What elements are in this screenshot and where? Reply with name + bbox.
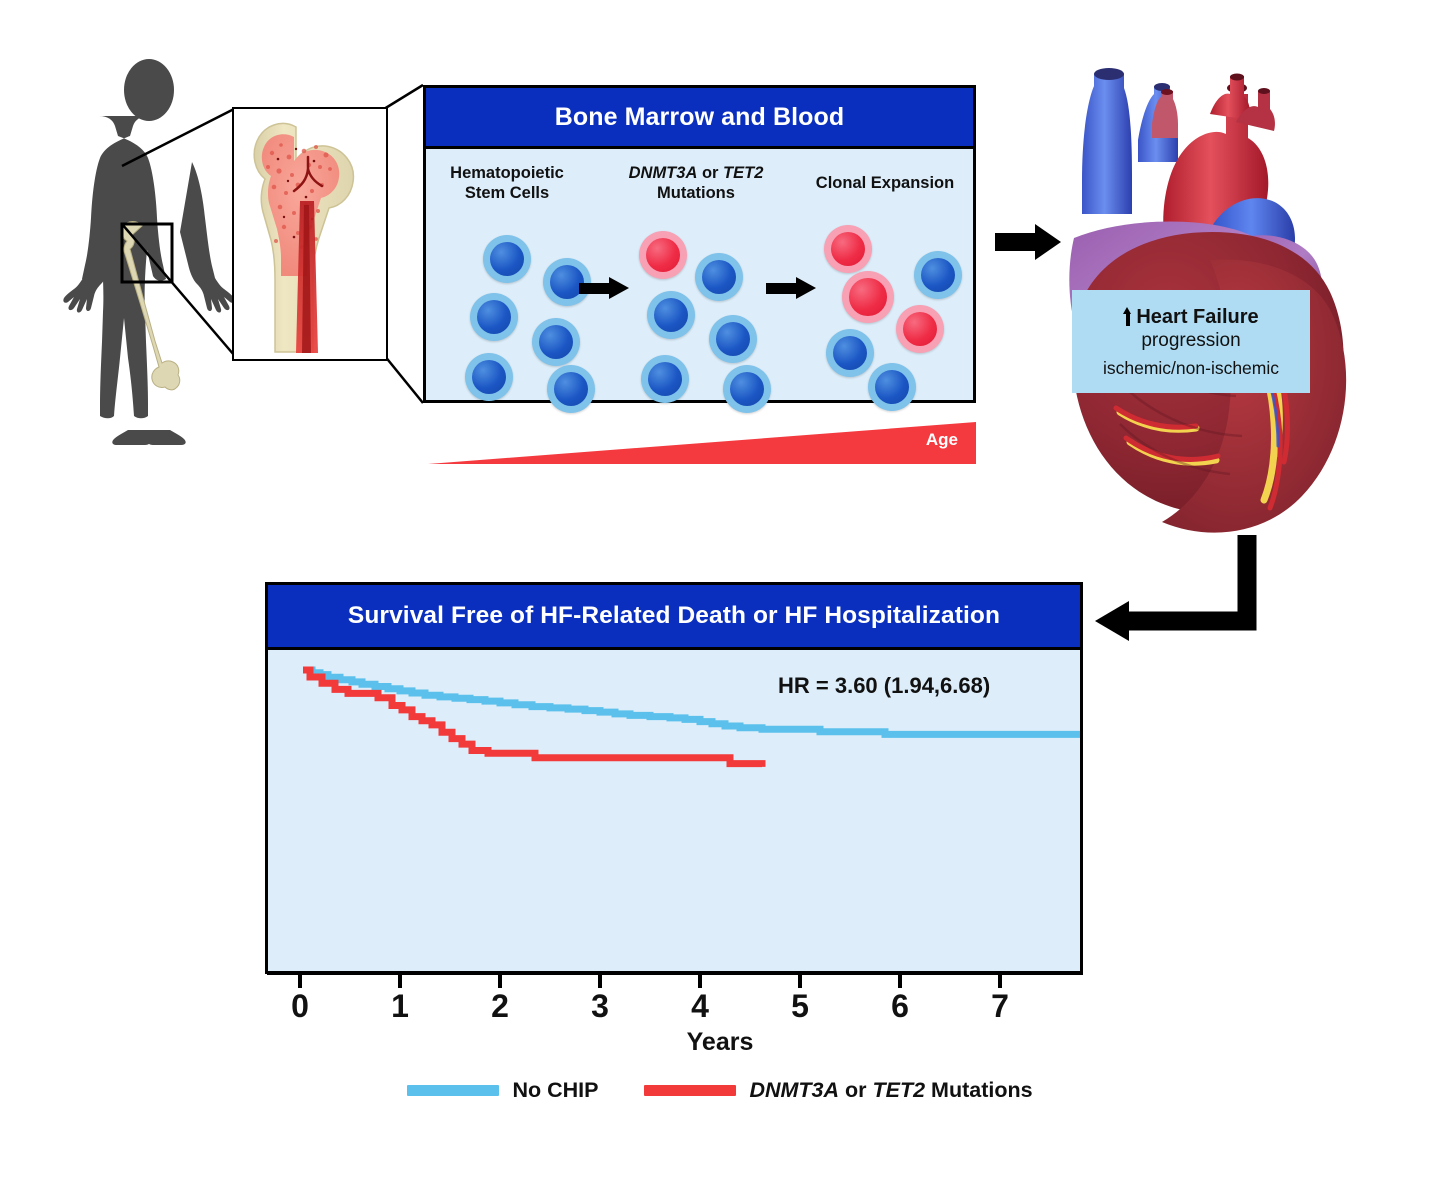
- x-axis-line: [267, 971, 1083, 975]
- heart-failure-callout-box: Heart Failure progression ischemic/non-i…: [1072, 290, 1310, 393]
- legend-label-mutations: DNMT3A or TET2 Mutations: [749, 1078, 1032, 1103]
- cell-blue-stage1-2: [470, 293, 518, 341]
- stage-arrow-2-icon: [766, 277, 816, 299]
- hf-callout-line1: Heart Failure: [1123, 305, 1258, 329]
- x-tick-0: [298, 975, 302, 988]
- x-tick-2: [498, 975, 502, 988]
- hsc-line1: Hematopoietic: [450, 164, 564, 182]
- chart-legend: No CHIP DNMT3A or TET2 Mutations: [0, 1078, 1440, 1103]
- cell-cluster-stage1: [447, 223, 597, 393]
- gene-tet2: TET2: [723, 164, 763, 182]
- column-label-clonal-expansion: Clonal Expansion: [800, 173, 970, 193]
- x-tick-label-1: 1: [380, 988, 420, 1025]
- x-tick-4: [698, 975, 702, 988]
- legend-label-no-chip: No CHIP: [512, 1078, 598, 1103]
- age-wedge-svg: [428, 418, 976, 468]
- femur-svg: [234, 109, 382, 355]
- legend-gene-dnmt3a: DNMT3A: [749, 1078, 839, 1102]
- cell-cluster-stage3: [818, 223, 968, 393]
- cell-blue-stage1-5: [547, 365, 595, 413]
- cell-blue-stage2-1: [695, 253, 743, 301]
- curve-no-chip: [305, 670, 1080, 734]
- cell-cluster-stage2: [633, 223, 783, 393]
- legend-swatch-mutations: [644, 1085, 736, 1096]
- x-tick-1: [398, 975, 402, 988]
- cell-red-stage3-2: [842, 271, 894, 323]
- cell-blue-stage3-4: [826, 329, 874, 377]
- cell-nucleus: [849, 278, 886, 315]
- x-tick-7: [998, 975, 1002, 988]
- cell-blue-stage2-5: [723, 365, 771, 413]
- legend-swatch-no-chip: [407, 1085, 499, 1096]
- legend-item-mutations: DNMT3A or TET2 Mutations: [644, 1078, 1032, 1103]
- x-tick-label-4: 4: [680, 988, 720, 1025]
- cell-blue-stage1-0: [483, 235, 531, 283]
- legend-item-no-chip: No CHIP: [407, 1078, 598, 1103]
- cell-blue-stage3-1: [914, 251, 962, 299]
- arrow-marrow-to-heart-icon: [995, 224, 1061, 260]
- up-arrow-icon: [1123, 307, 1132, 326]
- column-label-mutations: DNMT3A or TET2 Mutations: [601, 163, 791, 203]
- x-tick-label-0: 0: [280, 988, 320, 1025]
- hf-line1-text: Heart Failure: [1136, 305, 1258, 329]
- cell-blue-stage2-3: [709, 315, 757, 363]
- x-tick-label-5: 5: [780, 988, 820, 1025]
- legend-suffix: Mutations: [925, 1078, 1033, 1102]
- cell-blue-stage1-3: [532, 318, 580, 366]
- cell-blue-stage2-2: [647, 291, 695, 339]
- mutations-line2: Mutations: [657, 184, 735, 202]
- age-gradient-wedge: Age: [428, 418, 976, 468]
- legend-gene-tet2: TET2: [872, 1078, 925, 1102]
- x-tick-label-6: 6: [880, 988, 920, 1025]
- cell-red-stage3-0: [824, 225, 872, 273]
- x-tick-3: [598, 975, 602, 988]
- x-tick-6: [898, 975, 902, 988]
- cell-red-stage2-0: [639, 231, 687, 279]
- stage-arrow-1-icon: [579, 277, 629, 299]
- cell-blue-stage3-5: [868, 363, 916, 411]
- arrow-heart-to-plot-icon: [1085, 515, 1300, 655]
- hf-callout-line2: progression: [1141, 329, 1240, 352]
- femur-cross-section-inset: [232, 107, 388, 361]
- age-label: Age: [926, 430, 958, 450]
- kaplan-meier-curves: [267, 645, 1081, 971]
- x-axis-label: Years: [0, 1028, 1440, 1057]
- gene-dnmt3a: DNMT3A: [629, 164, 698, 182]
- x-tick-label-3: 3: [580, 988, 620, 1025]
- conjunction-or: or: [697, 164, 723, 182]
- survival-plot-title: Survival Free of HF-Related Death or HF …: [268, 585, 1080, 650]
- cell-red-stage3-3: [896, 305, 944, 353]
- bone-marrow-panel-title: Bone Marrow and Blood: [426, 88, 973, 149]
- hf-callout-line3: ischemic/non-ischemic: [1103, 357, 1279, 379]
- legend-conj: or: [839, 1078, 872, 1102]
- x-tick-label-2: 2: [480, 988, 520, 1025]
- hsc-line2: Stem Cells: [465, 184, 549, 202]
- column-label-hematopoietic-stem-cells: Hematopoietic Stem Cells: [432, 163, 582, 203]
- cell-blue-stage2-4: [641, 355, 689, 403]
- x-tick-label-7: 7: [980, 988, 1020, 1025]
- cell-blue-stage1-4: [465, 353, 513, 401]
- x-tick-5: [798, 975, 802, 988]
